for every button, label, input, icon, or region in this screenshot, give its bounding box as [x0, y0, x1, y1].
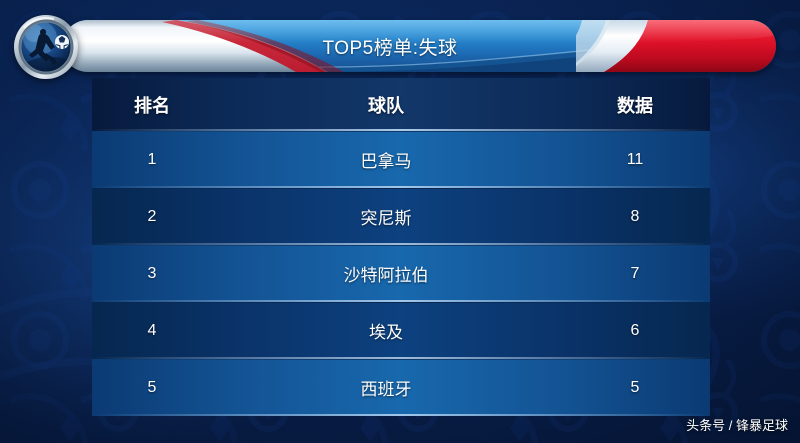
cell-rank: 5: [92, 379, 212, 397]
ranking-table: 排名 球队 数据 1 巴拿马 11 2 突尼斯 8 3 沙特阿拉伯 7 4 埃及…: [92, 78, 710, 415]
table-row[interactable]: 4 埃及 6: [92, 302, 710, 359]
cell-rank: 2: [92, 208, 212, 226]
soccer-player-badge-icon: [10, 14, 82, 80]
table-row[interactable]: 3 沙特阿拉伯 7: [92, 245, 710, 302]
cell-value: 8: [560, 208, 710, 226]
cell-rank: 3: [92, 265, 212, 283]
title-banner: TOP5榜单:失球: [62, 20, 776, 72]
watermark-text: 头条号 / 锋暴足球: [686, 415, 788, 434]
header-team: 球队: [212, 92, 560, 118]
cell-value: 11: [560, 151, 710, 169]
table-header-row: 排名 球队 数据: [92, 78, 710, 131]
infographic-stage: TOP5榜单:失球: [0, 0, 800, 443]
cell-team: 沙特阿拉伯: [212, 261, 560, 286]
header-rank: 排名: [92, 92, 212, 118]
table-row[interactable]: 2 突尼斯 8: [92, 188, 710, 245]
cell-team: 巴拿马: [212, 147, 560, 172]
table-row[interactable]: 1 巴拿马 11: [92, 131, 710, 188]
cell-team: 西班牙: [212, 375, 560, 400]
cell-value: 6: [560, 322, 710, 340]
cell-value: 5: [560, 379, 710, 397]
table-row[interactable]: 5 西班牙 5: [92, 359, 710, 416]
cell-rank: 4: [92, 322, 212, 340]
header-value: 数据: [560, 92, 710, 118]
cell-value: 7: [560, 265, 710, 283]
banner-title-text: TOP5榜单:失球: [62, 20, 776, 72]
cell-team: 突尼斯: [212, 204, 560, 229]
banner-body: TOP5榜单:失球: [62, 20, 776, 72]
cell-team: 埃及: [212, 318, 560, 343]
cell-rank: 1: [92, 151, 212, 169]
